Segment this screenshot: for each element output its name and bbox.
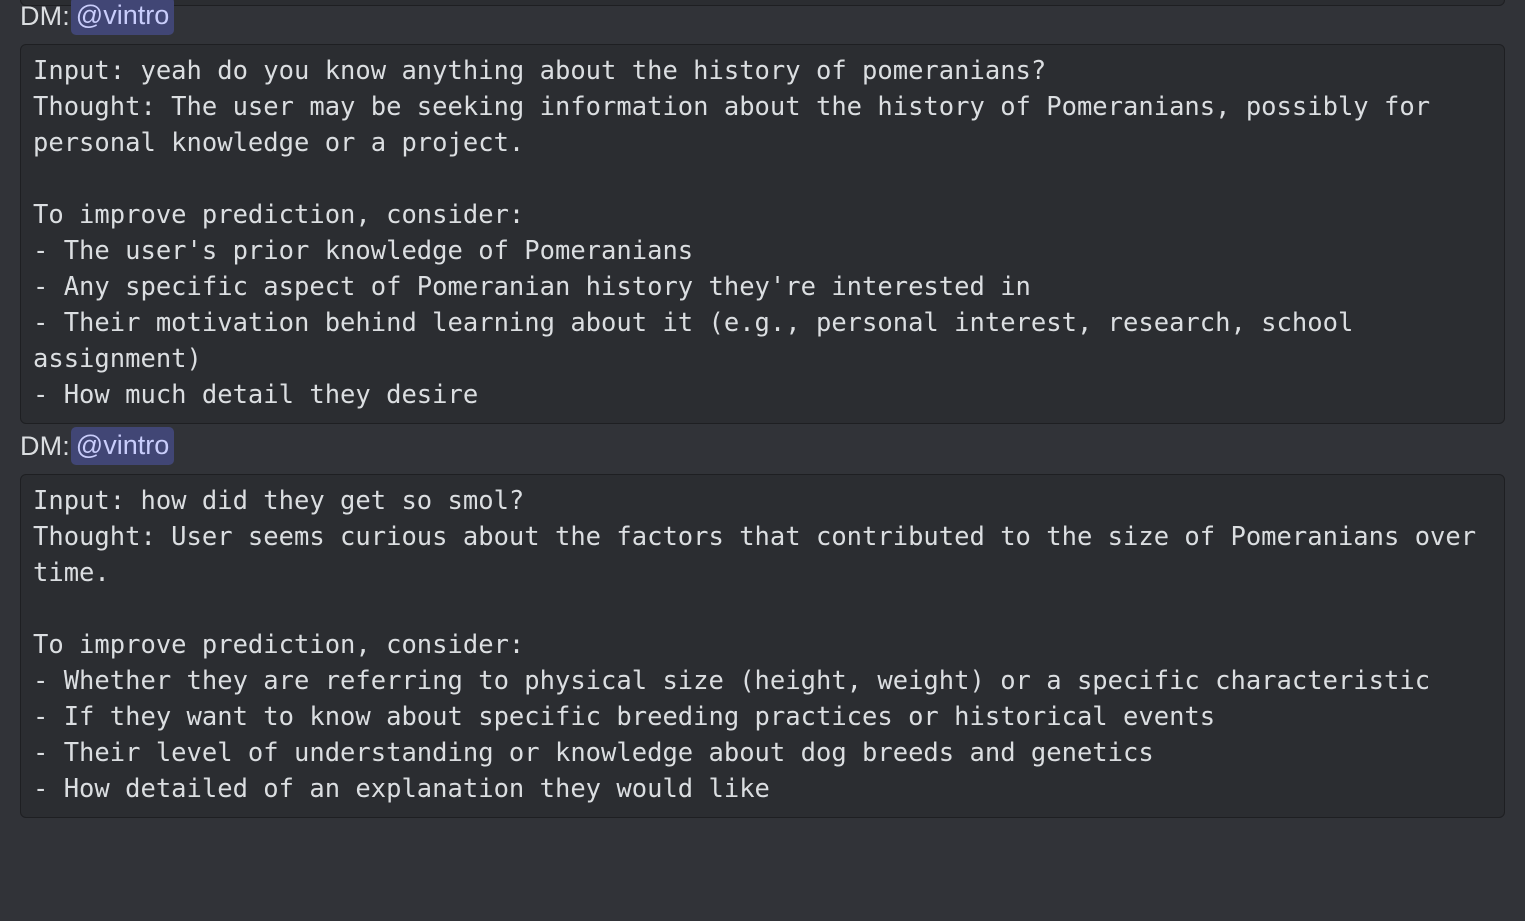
mention-pill[interactable]: @vintro bbox=[71, 0, 174, 35]
dm-header: DM: @vintro bbox=[0, 424, 1525, 468]
code-block-text: Input: yeah do you know anything about t… bbox=[33, 53, 1492, 413]
message-item: DM: @vintro Input: yeah do you know anyt… bbox=[0, 0, 1525, 424]
code-block-text: Input: how did they get so smol? Thought… bbox=[33, 483, 1492, 807]
message-item: DM: @vintro Input: how did they get so s… bbox=[0, 424, 1525, 818]
chat-viewport: DM: @vintro Input: yeah do you know anyt… bbox=[0, 0, 1525, 921]
code-block[interactable]: Input: yeah do you know anything about t… bbox=[20, 44, 1505, 424]
dm-label: DM: bbox=[20, 429, 70, 463]
dm-header: DM: @vintro bbox=[0, 0, 1525, 38]
code-block[interactable]: Input: how did they get so smol? Thought… bbox=[20, 474, 1505, 818]
mention-pill[interactable]: @vintro bbox=[71, 427, 174, 465]
dm-label: DM: bbox=[20, 0, 70, 33]
message-stream: DM: @vintro Input: yeah do you know anyt… bbox=[0, 0, 1525, 818]
